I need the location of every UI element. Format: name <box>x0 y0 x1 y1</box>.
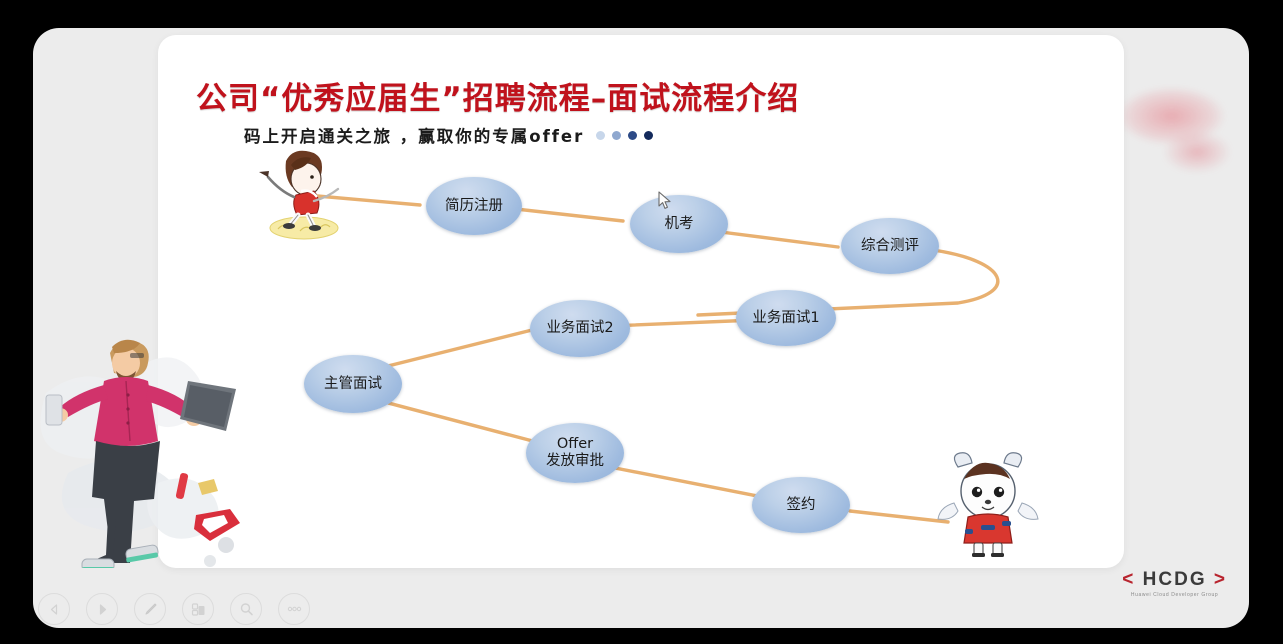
flow-node-exam[interactable]: 机考 <box>630 195 728 253</box>
slide-toolbar <box>38 593 310 625</box>
slide-panel-button[interactable] <box>182 593 214 625</box>
logo-text: < HCDG > <box>1122 569 1227 591</box>
logo-bracket-right: > <box>1214 569 1227 590</box>
logo-name: HCDG <box>1143 569 1207 590</box>
triangle-right-icon <box>96 603 109 616</box>
flow-node-label: Offer <box>557 436 593 453</box>
flow-node-assess[interactable]: 综合测评 <box>841 218 939 274</box>
zoom-button[interactable] <box>230 593 262 625</box>
logo-bracket-left: < <box>1122 569 1135 590</box>
next-slide-button[interactable] <box>86 593 118 625</box>
presentation-slide: 公司“优秀应届生”招聘流程–面试流程介绍 码上开启通关之旅 ，赢取你的专属off… <box>158 35 1124 568</box>
pen-tool-button[interactable] <box>134 593 166 625</box>
flow-node-label: 简历注册 <box>445 198 503 215</box>
recruitment-flow-diagram: 简历注册 机考 综合测评 业务面试1 业务面试2 主管面试 <box>158 35 1124 568</box>
flow-node-business-interview-1[interactable]: 业务面试1 <box>736 290 836 346</box>
flow-node-label-secondary: 发放审批 <box>546 453 604 470</box>
pen-icon <box>143 602 158 617</box>
flow-node-resume[interactable]: 简历注册 <box>426 177 522 235</box>
layout-panel-icon <box>191 602 206 617</box>
flow-node-label: 业务面试2 <box>546 320 613 337</box>
flow-node-label: 综合测评 <box>861 238 919 255</box>
flow-node-label: 业务面试1 <box>752 310 819 327</box>
flow-connectors <box>158 35 1124 568</box>
hcdg-logo: < HCDG > Huawei Cloud Developer Group <box>1122 569 1227 598</box>
flow-node-offer-approval[interactable]: Offer 发放审批 <box>526 423 624 483</box>
magnifier-icon <box>239 602 254 617</box>
triangle-left-icon <box>48 603 61 616</box>
screen: 公司“优秀应届生”招聘流程–面试流程介绍 码上开启通关之旅 ，赢取你的专属off… <box>0 0 1283 644</box>
more-options-button[interactable] <box>278 593 310 625</box>
app-window: 公司“优秀应届生”招聘流程–面试流程介绍 码上开启通关之旅 ，赢取你的专属off… <box>33 28 1249 628</box>
flow-node-manager-interview[interactable]: 主管面试 <box>304 355 402 413</box>
flow-node-label: 主管面试 <box>324 376 382 393</box>
ellipsis-icon <box>286 604 303 614</box>
previous-slide-button[interactable] <box>38 593 70 625</box>
flow-node-label: 机考 <box>665 216 694 233</box>
flow-node-sign-contract[interactable]: 签约 <box>752 477 850 533</box>
flow-node-label: 签约 <box>787 497 816 514</box>
flow-node-business-interview-2[interactable]: 业务面试2 <box>530 300 630 357</box>
logo-subtitle: Huawei Cloud Developer Group <box>1122 592 1227 598</box>
mouse-cursor <box>658 191 672 211</box>
